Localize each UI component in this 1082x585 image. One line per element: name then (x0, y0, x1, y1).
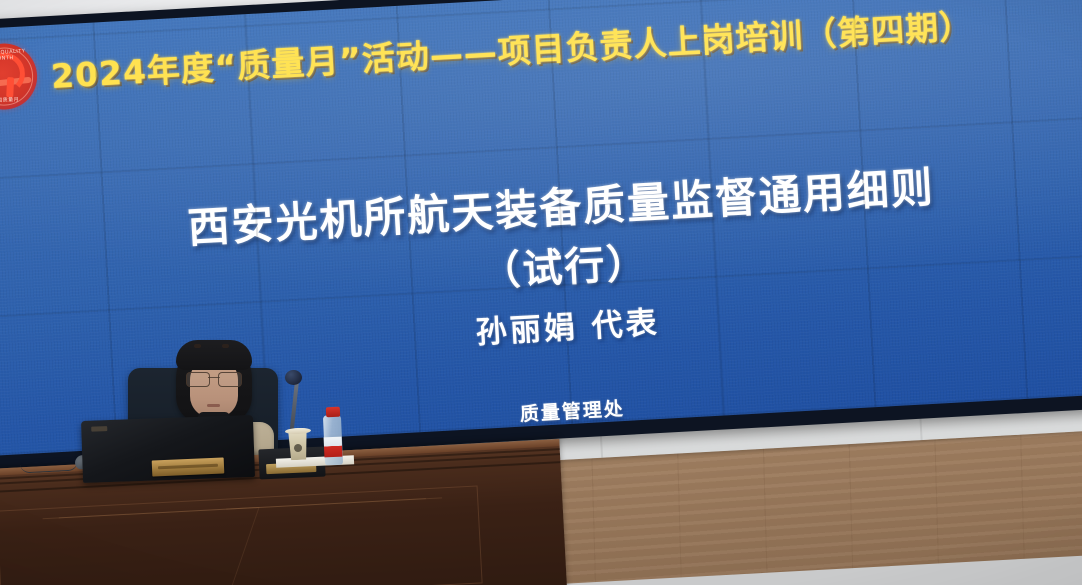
eyeglasses-icon (186, 372, 242, 385)
speaker-eye-right (222, 344, 229, 348)
water-bottle-cap (326, 407, 340, 418)
microphone-icon (285, 370, 302, 385)
speaker-mouth (207, 404, 220, 407)
speaker-eye-left (194, 344, 201, 348)
water-bottle-label (324, 437, 343, 458)
quality-month-logo-icon: CHINA QUALITY MONTH 中国质量月 (0, 42, 39, 112)
desk-name-plate (152, 457, 225, 476)
speaker-fringe (176, 340, 252, 370)
presentation-photo-scene: CHINA QUALITY MONTH 中国质量月 2024年度“质量月”活动—… (0, 0, 1082, 585)
